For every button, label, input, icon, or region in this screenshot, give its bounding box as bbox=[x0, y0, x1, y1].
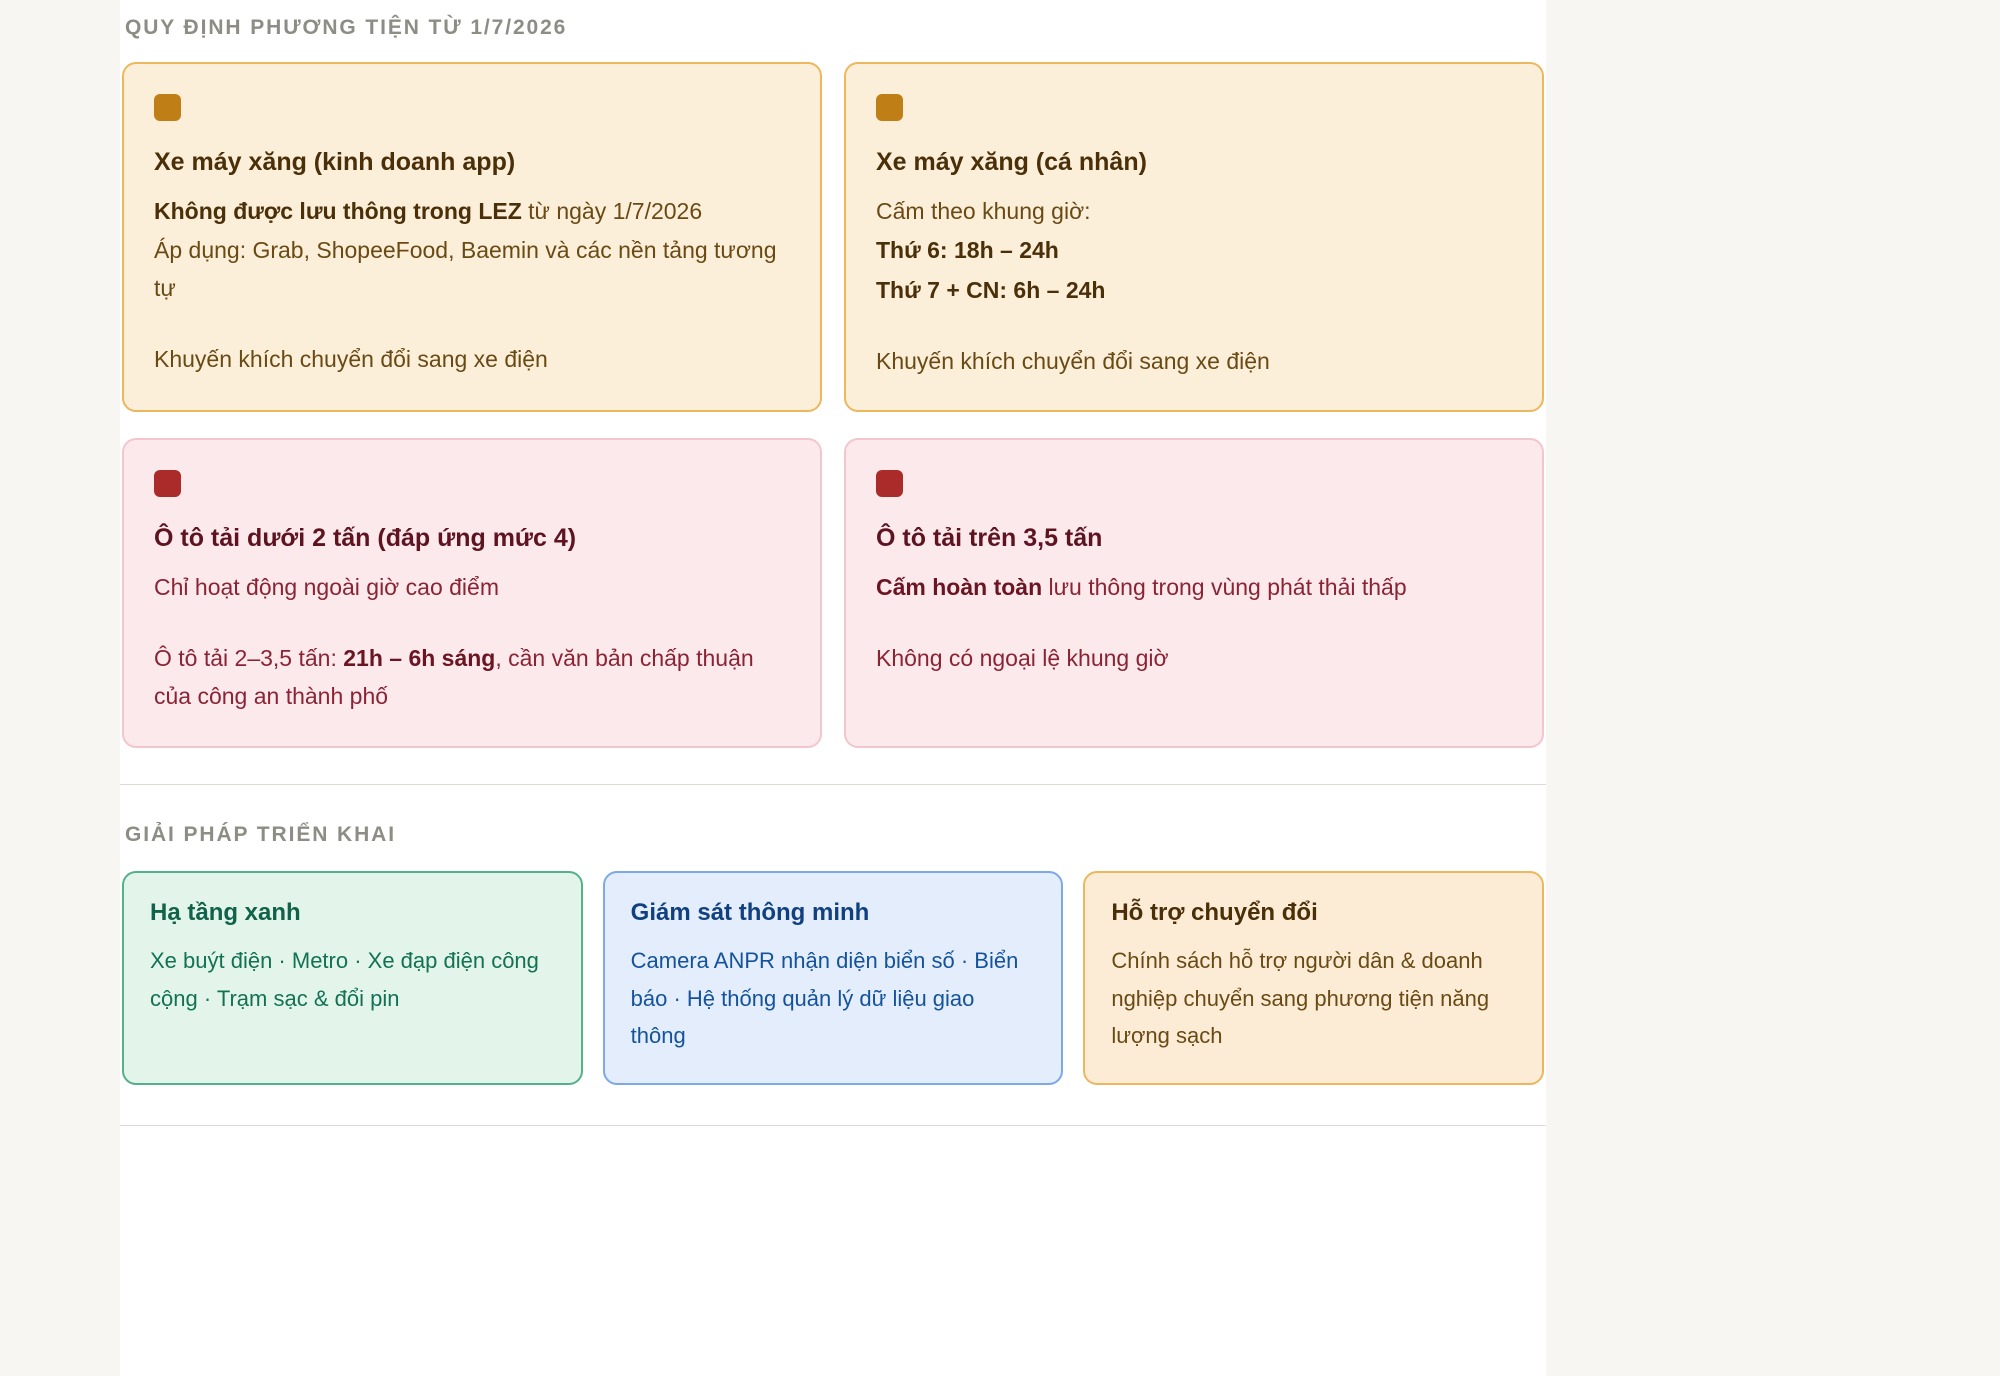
vehicle-card-motorbike-app[interactable]: Xe máy xăng (kinh doanh app) Không được … bbox=[122, 62, 822, 412]
vehicle-card-truck-under-2t[interactable]: Ô tô tải dưới 2 tấn (đáp ứng mức 4) Chỉ … bbox=[122, 438, 822, 748]
schedule-weekend-text: Thứ 7 + CN: 6h – 24h bbox=[876, 277, 1105, 303]
solutions-section: GIẢI PHÁP TRIỂN KHAI Hạ tầng xanh Xe buý… bbox=[120, 785, 1546, 1126]
solution-card-title: Giám sát thông minh bbox=[631, 899, 1036, 928]
solution-card-smart-monitoring[interactable]: Giám sát thông minh Camera ANPR nhận diệ… bbox=[603, 871, 1064, 1085]
content-column: QUY ĐỊNH PHƯƠNG TIỆN TỪ 1/7/2026 Xe máy … bbox=[120, 0, 1546, 1376]
vehicle-card-note: Khuyến khích chuyển đổi sang xe điện bbox=[154, 341, 790, 378]
vehicle-card-title: Xe máy xăng (cá nhân) bbox=[876, 147, 1512, 177]
vehicle-card-title: Ô tô tải dưới 2 tấn (đáp ứng mức 4) bbox=[154, 523, 790, 553]
vehicle-card-rule-rest: lưu thông trong vùng phát thải thấp bbox=[1042, 574, 1407, 600]
solutions-grid: Hạ tầng xanh Xe buýt điện · Metro · Xe đ… bbox=[120, 871, 1546, 1085]
vehicle-card-rule-line: Cấm hoàn toàn lưu thông trong vùng phát … bbox=[876, 569, 1512, 606]
vehicle-card-rule-strong: Cấm hoàn toàn bbox=[876, 574, 1042, 600]
section-heading-solutions: GIẢI PHÁP TRIỂN KHAI bbox=[120, 823, 1546, 847]
vehicle-card-motorbike-personal[interactable]: Xe máy xăng (cá nhân) Cấm theo khung giờ… bbox=[844, 62, 1544, 412]
solution-card-body: Chính sách hỗ trợ người dân & doanh nghi… bbox=[1111, 942, 1516, 1055]
vehicle-card-schedule-friday: Thứ 6: 18h – 24h bbox=[876, 232, 1512, 269]
section-heading-vehicle-rules: QUY ĐỊNH PHƯƠNG TIỆN TỪ 1/7/2026 bbox=[120, 16, 1546, 40]
vehicle-card-truck-over-35t[interactable]: Ô tô tải trên 3,5 tấn Cấm hoàn toàn lưu … bbox=[844, 438, 1544, 748]
vehicle-card-rule-line: Cấm theo khung giờ: bbox=[876, 193, 1512, 230]
vehicle-card-rule-strong: Không được lưu thông trong LEZ bbox=[154, 198, 522, 224]
solution-card-green-infrastructure[interactable]: Hạ tầng xanh Xe buýt điện · Metro · Xe đ… bbox=[122, 871, 583, 1085]
schedule-friday-text: Thứ 6: 18h – 24h bbox=[876, 237, 1059, 263]
vehicle-rules-grid-row-2: Ô tô tải dưới 2 tấn (đáp ứng mức 4) Chỉ … bbox=[120, 438, 1546, 748]
vehicle-card-note: Ô tô tải 2–3,5 tấn: 21h – 6h sáng, cần v… bbox=[154, 640, 790, 715]
vehicle-card-rule-line: Chỉ hoạt động ngoài giờ cao điểm bbox=[154, 569, 790, 606]
solution-card-title: Hạ tầng xanh bbox=[150, 899, 555, 928]
vehicle-card-detail-line: Áp dụng: Grab, ShopeeFood, Baemin và các… bbox=[154, 232, 790, 307]
note-prefix: Ô tô tải 2–3,5 tấn: bbox=[154, 645, 343, 671]
vehicle-card-schedule-weekend: Thứ 7 + CN: 6h – 24h bbox=[876, 272, 1512, 309]
section-divider-2 bbox=[120, 1125, 1546, 1126]
vehicle-card-title: Ô tô tải trên 3,5 tấn bbox=[876, 523, 1512, 553]
vehicle-card-rule-line: Không được lưu thông trong LEZ từ ngày 1… bbox=[154, 193, 790, 230]
vehicle-card-rule-rest: từ ngày 1/7/2026 bbox=[522, 198, 702, 224]
solution-card-title: Hỗ trợ chuyển đổi bbox=[1111, 899, 1516, 928]
solution-card-body: Camera ANPR nhận diện biển số · Biển báo… bbox=[631, 942, 1036, 1055]
vehicle-card-note: Khuyến khích chuyển đổi sang xe điện bbox=[876, 343, 1512, 380]
solution-card-transition-support[interactable]: Hỗ trợ chuyển đổi Chính sách hỗ trợ ngườ… bbox=[1083, 871, 1544, 1085]
vehicle-card-title: Xe máy xăng (kinh doanh app) bbox=[154, 147, 790, 177]
vehicle-card-note: Không có ngoại lệ khung giờ bbox=[876, 640, 1512, 677]
solution-card-body: Xe buýt điện · Metro · Xe đạp điện công … bbox=[150, 942, 555, 1018]
amber-square-icon bbox=[876, 94, 903, 121]
amber-square-icon bbox=[154, 94, 181, 121]
red-square-icon bbox=[876, 470, 903, 497]
note-strong: 21h – 6h sáng bbox=[343, 645, 495, 671]
red-square-icon bbox=[154, 470, 181, 497]
vehicle-rules-grid-row-1: Xe máy xăng (kinh doanh app) Không được … bbox=[120, 62, 1546, 412]
